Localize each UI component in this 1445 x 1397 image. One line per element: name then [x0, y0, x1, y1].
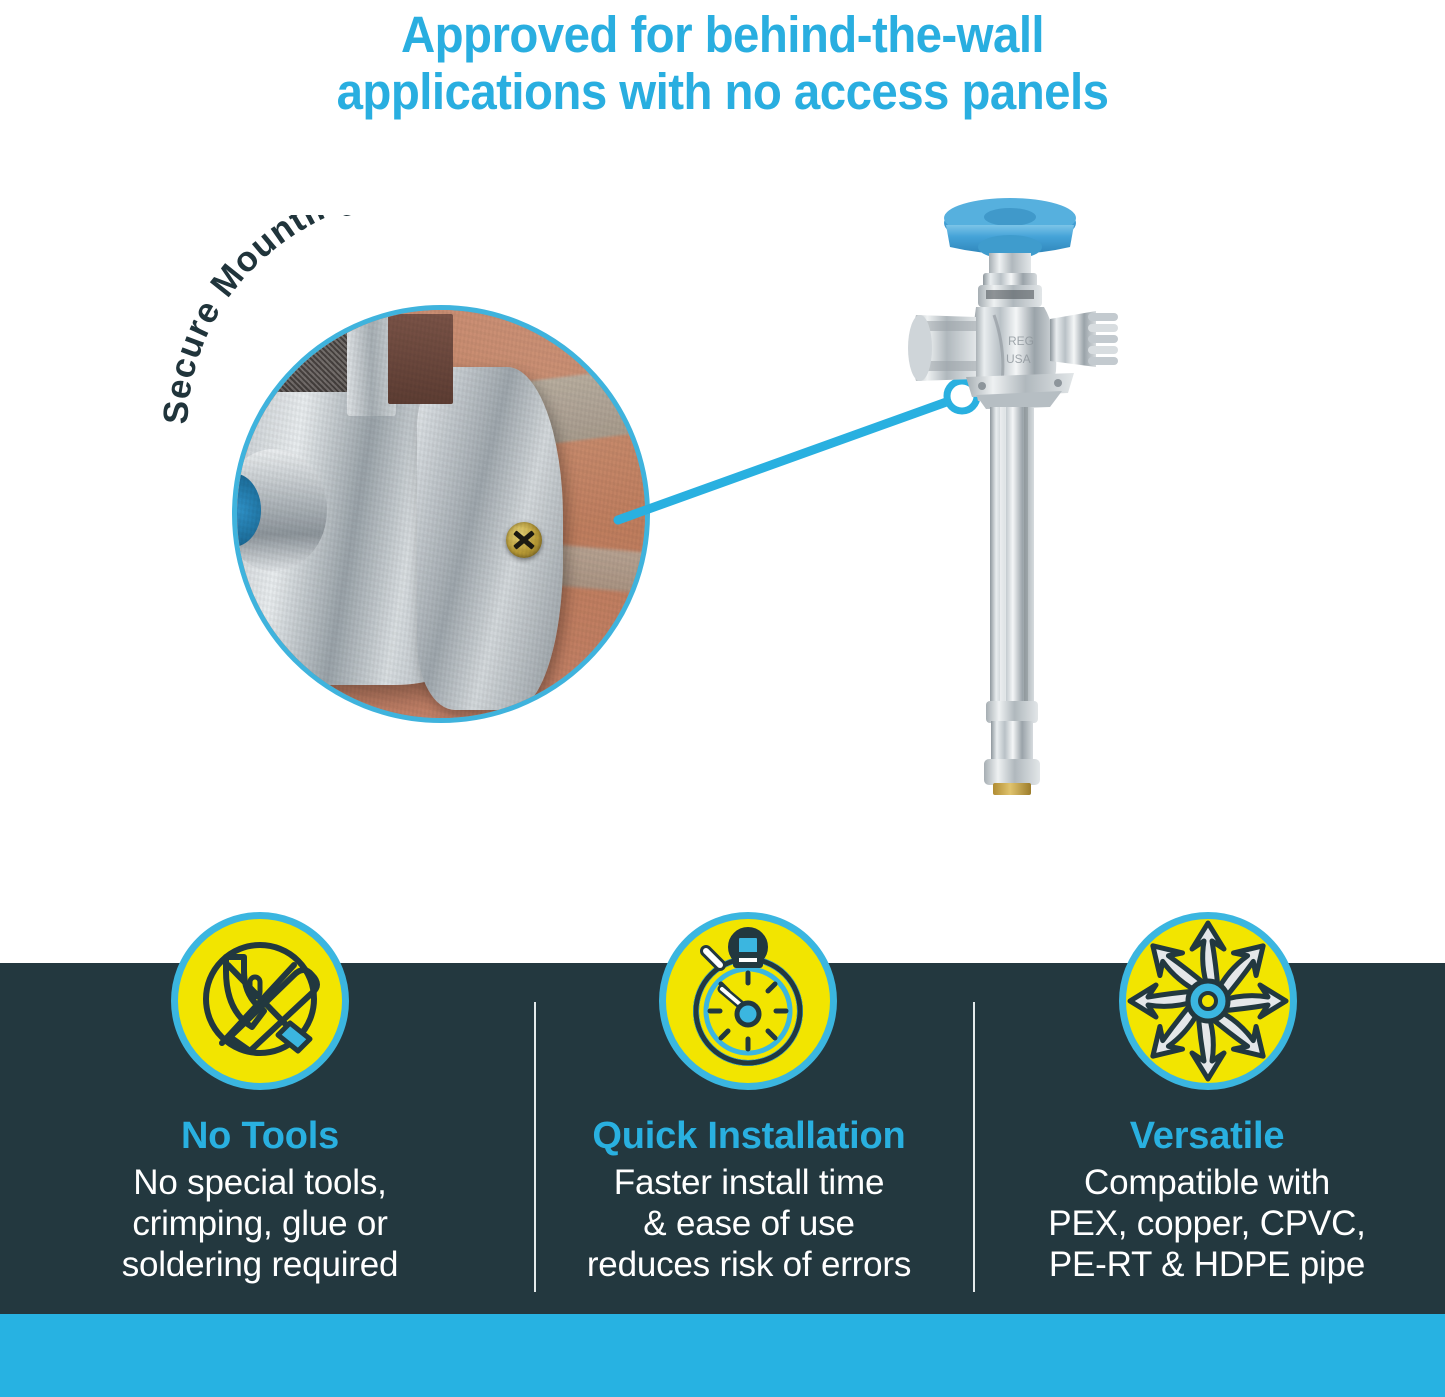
- feature-column-no-tools: No Tools No special tools, crimping, glu…: [45, 1114, 475, 1285]
- feature-desc-line: No special tools,: [45, 1162, 475, 1203]
- feature-column-quick-installation: Quick Installation Faster install time &…: [534, 1114, 964, 1285]
- brass-tip: [993, 783, 1031, 795]
- radiating-arrows-icon: [1119, 912, 1297, 1090]
- infographic-page: Approved for behind-the-wall application…: [0, 0, 1445, 1397]
- feature-desc-line: PE-RT & HDPE pipe: [992, 1244, 1422, 1285]
- feature-desc-line: PEX, copper, CPVC,: [992, 1203, 1422, 1244]
- feature-title: Versatile: [992, 1114, 1422, 1158]
- svg-text:USA: USA: [1006, 352, 1031, 366]
- valve-tube: [984, 407, 1040, 795]
- no-tools-icon: [171, 912, 349, 1090]
- column-divider-2: [973, 1002, 975, 1292]
- feature-desc-line: Compatible with: [992, 1162, 1422, 1203]
- stopwatch-icon: [659, 912, 837, 1090]
- feature-desc-line: soldering required: [45, 1244, 475, 1285]
- page-headline: Approved for behind-the-wall application…: [51, 6, 1395, 120]
- feature-desc-line: crimping, glue or: [45, 1203, 475, 1244]
- product-sillcock-valve: REG USA: [890, 195, 1130, 825]
- feature-description: Faster install time & ease of use reduce…: [534, 1162, 964, 1285]
- valve-stem: [978, 253, 1042, 307]
- feature-title: No Tools: [45, 1114, 475, 1158]
- valve-inlet-nut: [908, 315, 976, 381]
- flange-closeup-photo: [232, 305, 650, 723]
- mounting-flange: [966, 373, 1074, 409]
- feature-title: Quick Installation: [534, 1114, 964, 1158]
- photo-grain-overlay: [237, 310, 645, 718]
- feature-description: Compatible with PEX, copper, CPVC, PE-RT…: [992, 1162, 1422, 1285]
- headline-line-1: Approved for behind-the-wall: [51, 6, 1395, 63]
- outlet-threads: [1088, 313, 1118, 365]
- valve-handwheel: [944, 198, 1076, 259]
- feature-desc-line: reduces risk of errors: [534, 1244, 964, 1285]
- feature-desc-line: & ease of use: [534, 1203, 964, 1244]
- headline-line-2: applications with no access panels: [51, 63, 1395, 120]
- valve-hose-outlet: [1050, 311, 1118, 367]
- feature-description: No special tools, crimping, glue or sold…: [45, 1162, 475, 1285]
- svg-text:REG: REG: [1008, 334, 1034, 348]
- feature-column-versatile: Versatile Compatible with PEX, copper, C…: [992, 1114, 1422, 1285]
- footer-bar: [0, 1314, 1445, 1397]
- feature-desc-line: Faster install time: [534, 1162, 964, 1203]
